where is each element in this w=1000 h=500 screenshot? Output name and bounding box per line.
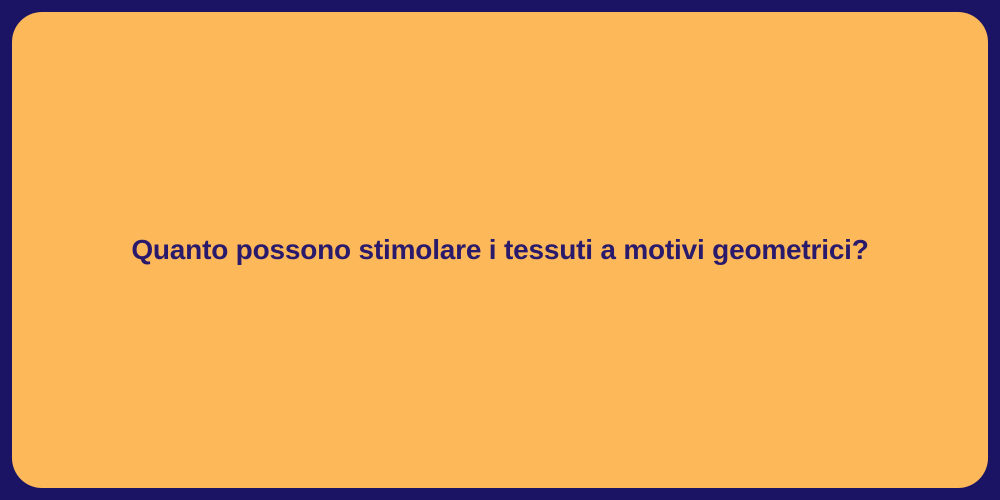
question-card: Quanto possono stimolare i tessuti a mot… [12,12,988,488]
page-title: Quanto possono stimolare i tessuti a mot… [131,232,868,268]
page-background: Quanto possono stimolare i tessuti a mot… [0,0,1000,500]
